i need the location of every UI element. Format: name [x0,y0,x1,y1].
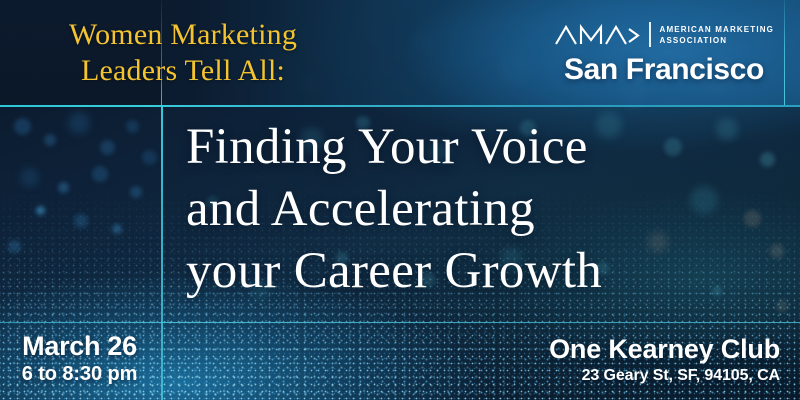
divider-horizontal-bottom [161,322,800,323]
venue-address: 23 Geary St, SF, 94105, CA [549,365,780,386]
event-date-block: March 26 6 to 8:30 pm [0,331,159,387]
kicker-headline: Women Marketing Leaders Tell All: [8,17,358,89]
event-time: 6 to 8:30 pm [0,362,159,387]
logo-divider [649,22,651,47]
event-date: March 26 [0,331,159,362]
event-title-line-1: Finding Your Voice [186,116,786,178]
ama-org-name: American Marketing Association [660,24,774,46]
ama-org-line-1: American Marketing [660,24,774,35]
ama-logo-icon [554,23,640,47]
divider-horizontal-top [0,105,800,107]
ama-chapter-name: San Francisco [564,53,764,87]
venue-name: One Kearney Club [549,333,780,365]
event-venue-block: One Kearney Club 23 Geary St, SF, 94105,… [549,333,780,386]
ama-logo-lockup: American Marketing Association San Franc… [554,22,774,87]
kicker-line-2: Leaders Tell All: [8,53,358,89]
event-title-line-3: your Career Growth [186,240,786,302]
ama-org-line-2: Association [660,35,774,46]
event-title-line-2: and Accelerating [186,178,786,240]
event-banner: Women Marketing Leaders Tell All: Americ… [0,0,800,400]
ama-logo-row: American Marketing Association [554,22,774,47]
divider-vertical-header-right [784,0,785,106]
kicker-line-1: Women Marketing [8,17,358,53]
event-title: Finding Your Voice and Accelerating your… [186,116,786,302]
divider-vertical-main [161,105,163,400]
divider-horizontal-bottom-left [0,322,162,323]
